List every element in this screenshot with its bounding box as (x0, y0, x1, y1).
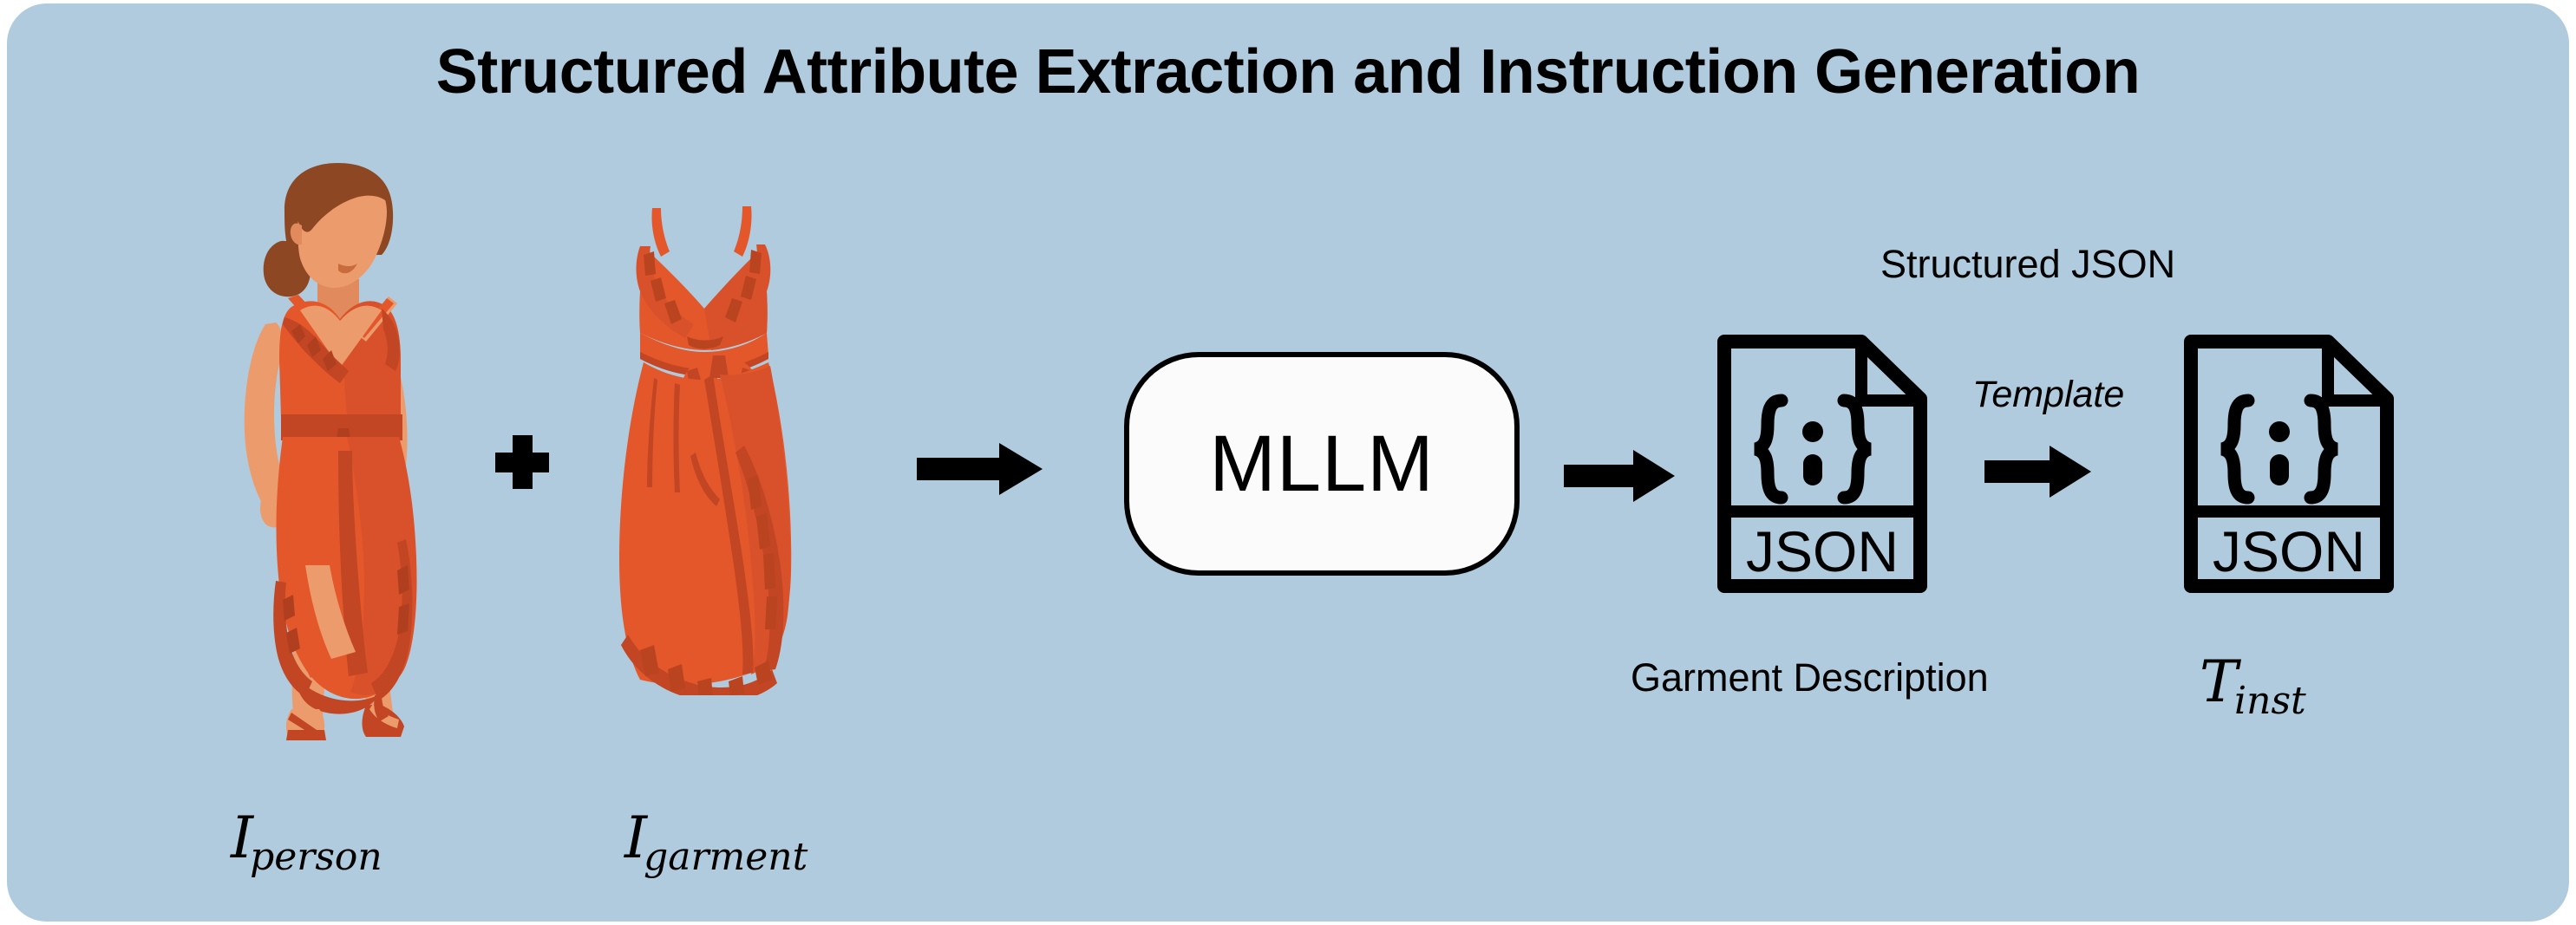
arrow-model-to-json (1564, 450, 1677, 502)
plus-operator-icon (495, 435, 549, 489)
person-label-sub: person (250, 835, 382, 879)
garment-label-sub: garment (644, 835, 807, 879)
arrow-json-to-instruction (1984, 446, 2097, 498)
garment-image (590, 201, 817, 695)
garment-description-caption: Garment Description (1631, 658, 1989, 697)
person-input-label: Iperson (231, 810, 386, 867)
template-edge-label: Template (1972, 376, 2124, 414)
instruction-label-sub: inst (2234, 679, 2306, 723)
structured-json-caption: Structured JSON (1880, 244, 2175, 283)
diagram-panel: Structured Attribute Extraction and Inst… (7, 3, 2569, 922)
instruction-label-main: T (2200, 648, 2238, 715)
arrow-inputs-to-model (917, 443, 1043, 495)
instruction-output-label: Tinst (2200, 654, 2310, 711)
svg-text:JSON: JSON (1746, 519, 1899, 583)
mllm-label: MLLM (1129, 357, 1514, 570)
mllm-node[interactable]: MLLM (1124, 352, 1520, 576)
svg-text:JSON: JSON (2213, 519, 2365, 583)
json-file-icon-structured: JSON (1714, 331, 1931, 596)
page-title: Structured Attribute Extraction and Inst… (7, 36, 2569, 107)
json-file-icon-instruction: JSON (2180, 331, 2397, 596)
person-image (208, 158, 484, 747)
garment-input-label: Igarment (624, 810, 811, 867)
